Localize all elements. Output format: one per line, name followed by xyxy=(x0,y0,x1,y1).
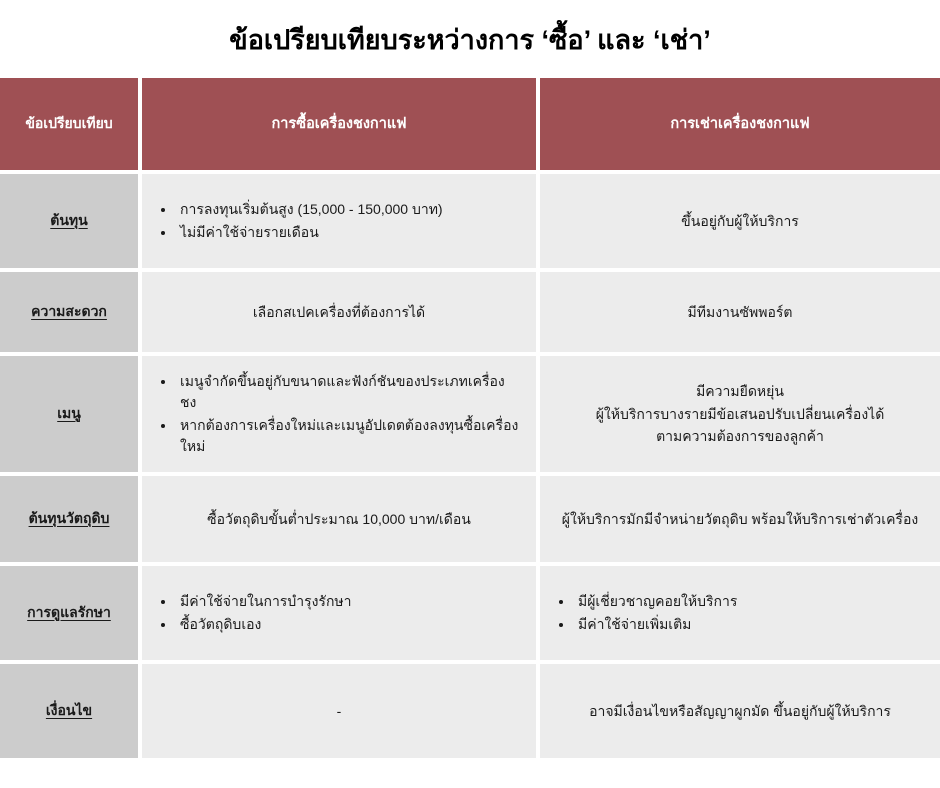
row-rent-cell: มีผู้เชี่ยวชาญคอยให้บริการ มีค่าใช้จ่ายเ… xyxy=(540,566,940,660)
header-cell-rent: การเช่าเครื่องชงกาแฟ xyxy=(540,78,940,170)
row-label: การดูแลรักษา xyxy=(27,602,111,624)
row-label: ความสะดวก xyxy=(31,301,107,323)
row-label-cell: ต้นทุนวัตถุดิบ xyxy=(0,476,138,562)
cell-text: เลือกสเปคเครื่องที่ต้องการได้ xyxy=(253,301,425,323)
row-buy-cell: การลงทุนเริ่มต้นสูง (15,000 - 150,000 บา… xyxy=(142,174,536,268)
row-label: เงื่อนไข xyxy=(46,700,92,722)
bullet-list: เมนูจำกัดขึ้นอยู่กับขนาดและฟังก์ชันของปร… xyxy=(150,369,520,459)
list-item: ไม่มีค่าใช้จ่ายรายเดือน xyxy=(176,222,443,243)
cell-text: ขึ้นอยู่กับผู้ให้บริการ xyxy=(681,210,799,232)
row-buy-cell: เมนูจำกัดขึ้นอยู่กับขนาดและฟังก์ชันของปร… xyxy=(142,356,536,472)
cell-text: อาจมีเงื่อนไขหรือสัญญาผูกมัด ขึ้นอยู่กับ… xyxy=(589,700,891,722)
table-header-row: ข้อเปรียบเทียบ การซื้อเครื่องชงกาแฟ การเ… xyxy=(0,78,940,170)
list-item: ซื้อวัตถุดิบเอง xyxy=(176,614,352,635)
cell-text: มีทีมงานซัพพอร์ต xyxy=(688,301,793,323)
row-rent-cell: มีความยืดหยุ่น ผู้ให้บริการบางรายมีข้อเส… xyxy=(540,356,940,472)
comparison-table: ข้อเปรียบเทียบ การซื้อเครื่องชงกาแฟ การเ… xyxy=(0,78,940,758)
list-item: มีค่าใช้จ่ายเพิ่มเติม xyxy=(574,614,737,635)
bullet-list: มีค่าใช้จ่ายในการบำรุงรักษา ซื้อวัตถุดิบ… xyxy=(150,589,352,637)
bullet-list: การลงทุนเริ่มต้นสูง (15,000 - 150,000 บา… xyxy=(150,197,443,245)
comparison-page: ข้อเปรียบเทียบระหว่างการ ‘ซื้อ’ และ ‘เช่… xyxy=(0,0,940,788)
table-row: ความสะดวก เลือกสเปคเครื่องที่ต้องการได้ … xyxy=(0,272,940,352)
table-row: ต้นทุน การลงทุนเริ่มต้นสูง (15,000 - 150… xyxy=(0,174,940,268)
row-label-cell: เมนู xyxy=(0,356,138,472)
list-item: หากต้องการเครื่องใหม่และเมนูอัปเดตต้องลง… xyxy=(176,415,520,457)
row-buy-cell: ซื้อวัตถุดิบขั้นต่ำประมาณ 10,000 บาท/เดื… xyxy=(142,476,536,562)
row-label-cell: ความสะดวก xyxy=(0,272,138,352)
cell-text: ซื้อวัตถุดิบขั้นต่ำประมาณ 10,000 บาท/เดื… xyxy=(207,508,471,530)
row-rent-cell: ผู้ให้บริการมักมีจำหน่ายวัตถุดิบ พร้อมให… xyxy=(540,476,940,562)
row-rent-cell: อาจมีเงื่อนไขหรือสัญญาผูกมัด ขึ้นอยู่กับ… xyxy=(540,664,940,758)
row-label-cell: การดูแลรักษา xyxy=(0,566,138,660)
list-item: มีค่าใช้จ่ายในการบำรุงรักษา xyxy=(176,591,352,612)
list-item: มีผู้เชี่ยวชาญคอยให้บริการ xyxy=(574,591,737,612)
list-item: เมนูจำกัดขึ้นอยู่กับขนาดและฟังก์ชันของปร… xyxy=(176,371,520,413)
row-label: ต้นทุนวัตถุดิบ xyxy=(29,508,110,530)
cell-text: มีความยืดหยุ่น ผู้ให้บริการบางรายมีข้อเส… xyxy=(596,380,885,447)
table-row: เงื่อนไข - อาจมีเงื่อนไขหรือสัญญาผูกมัด … xyxy=(0,664,940,758)
row-rent-cell: มีทีมงานซัพพอร์ต xyxy=(540,272,940,352)
cell-text: ผู้ให้บริการมักมีจำหน่ายวัตถุดิบ พร้อมให… xyxy=(562,508,918,530)
row-rent-cell: ขึ้นอยู่กับผู้ให้บริการ xyxy=(540,174,940,268)
bullet-list: มีผู้เชี่ยวชาญคอยให้บริการ มีค่าใช้จ่ายเ… xyxy=(548,589,737,637)
row-label: เมนู xyxy=(57,403,81,425)
table-row: ต้นทุนวัตถุดิบ ซื้อวัตถุดิบขั้นต่ำประมาณ… xyxy=(0,476,940,562)
row-label: ต้นทุน xyxy=(50,210,87,232)
cell-text: - xyxy=(337,700,342,722)
page-title: ข้อเปรียบเทียบระหว่างการ ‘ซื้อ’ และ ‘เช่… xyxy=(0,0,940,58)
list-item: การลงทุนเริ่มต้นสูง (15,000 - 150,000 บา… xyxy=(176,199,443,220)
row-label-cell: เงื่อนไข xyxy=(0,664,138,758)
header-cell-buy: การซื้อเครื่องชงกาแฟ xyxy=(142,78,536,170)
row-label-cell: ต้นทุน xyxy=(0,174,138,268)
header-cell-criteria: ข้อเปรียบเทียบ xyxy=(0,78,138,170)
table-row: การดูแลรักษา มีค่าใช้จ่ายในการบำรุงรักษา… xyxy=(0,566,940,660)
row-buy-cell: - xyxy=(142,664,536,758)
table-row: เมนู เมนูจำกัดขึ้นอยู่กับขนาดและฟังก์ชัน… xyxy=(0,356,940,472)
row-buy-cell: เลือกสเปคเครื่องที่ต้องการได้ xyxy=(142,272,536,352)
row-buy-cell: มีค่าใช้จ่ายในการบำรุงรักษา ซื้อวัตถุดิบ… xyxy=(142,566,536,660)
